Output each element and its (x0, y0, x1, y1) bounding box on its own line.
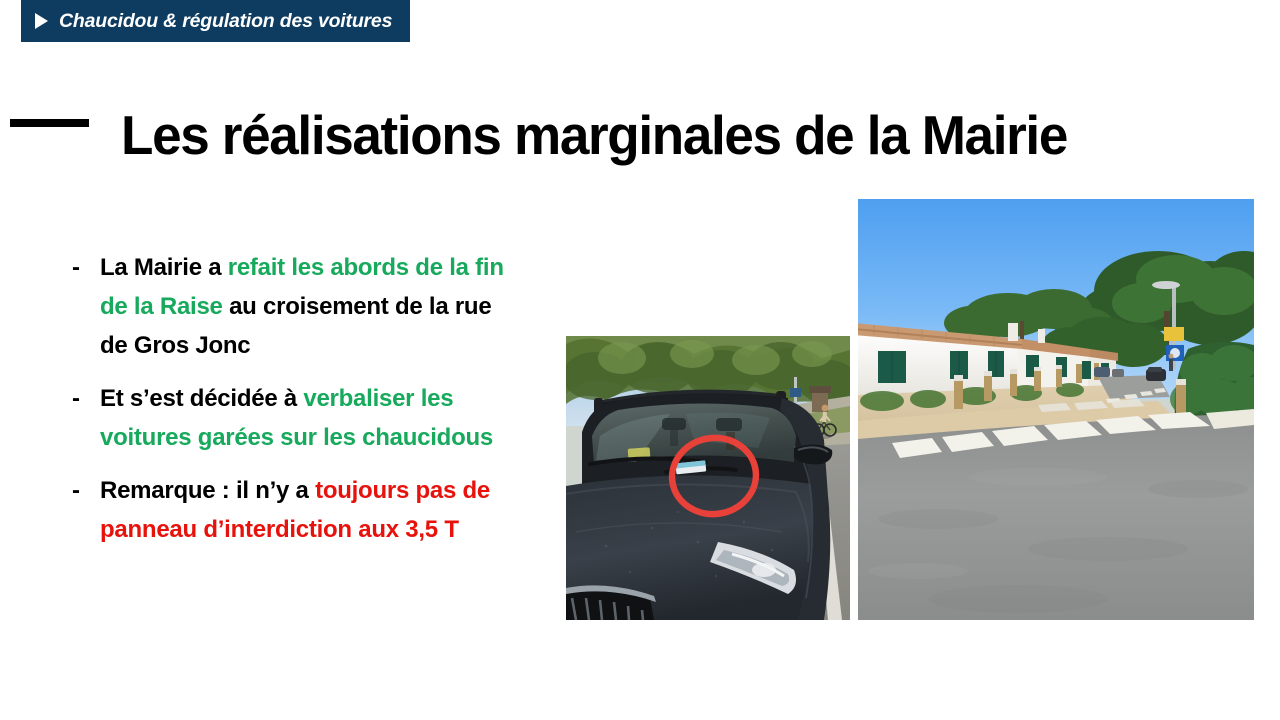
bullet-text: La Mairie a refait les abords de la fin … (100, 248, 524, 365)
bullet-list: - La Mairie a refait les abords de la fi… (72, 248, 524, 549)
section-banner: Chaucidou & régulation des voitures (21, 0, 410, 42)
page-title: Les réalisations marginales de la Mairie (121, 106, 1067, 165)
title-accent-rule (10, 119, 89, 127)
bullet-segment: Remarque : il n’y a (100, 477, 315, 504)
list-item: - Et s’est décidée à verbaliser les voit… (72, 379, 524, 457)
list-item: - Remarque : il n’y a toujours pas de pa… (72, 471, 524, 549)
bullet-marker-icon: - (72, 248, 100, 287)
bullet-segment: La Mairie a (100, 254, 228, 281)
bullet-text: Remarque : il n’y a toujours pas de pann… (100, 471, 524, 549)
section-banner-label: Chaucidou & régulation des voitures (59, 10, 392, 33)
bullet-marker-icon: - (72, 379, 100, 418)
bullet-marker-icon: - (72, 471, 100, 510)
bullet-segment: Et s’est décidée à (100, 385, 303, 412)
photo-car-windshield-ticket-graphic (566, 336, 850, 620)
list-item: - La Mairie a refait les abords de la fi… (72, 248, 524, 365)
photo-car-windshield-ticket (566, 336, 850, 620)
photo-street-crosswalk-graphic (858, 199, 1254, 620)
bullet-text: Et s’est décidée à verbaliser les voitur… (100, 379, 524, 457)
play-triangle-icon (35, 13, 48, 29)
photo-street-crosswalk (858, 199, 1254, 620)
